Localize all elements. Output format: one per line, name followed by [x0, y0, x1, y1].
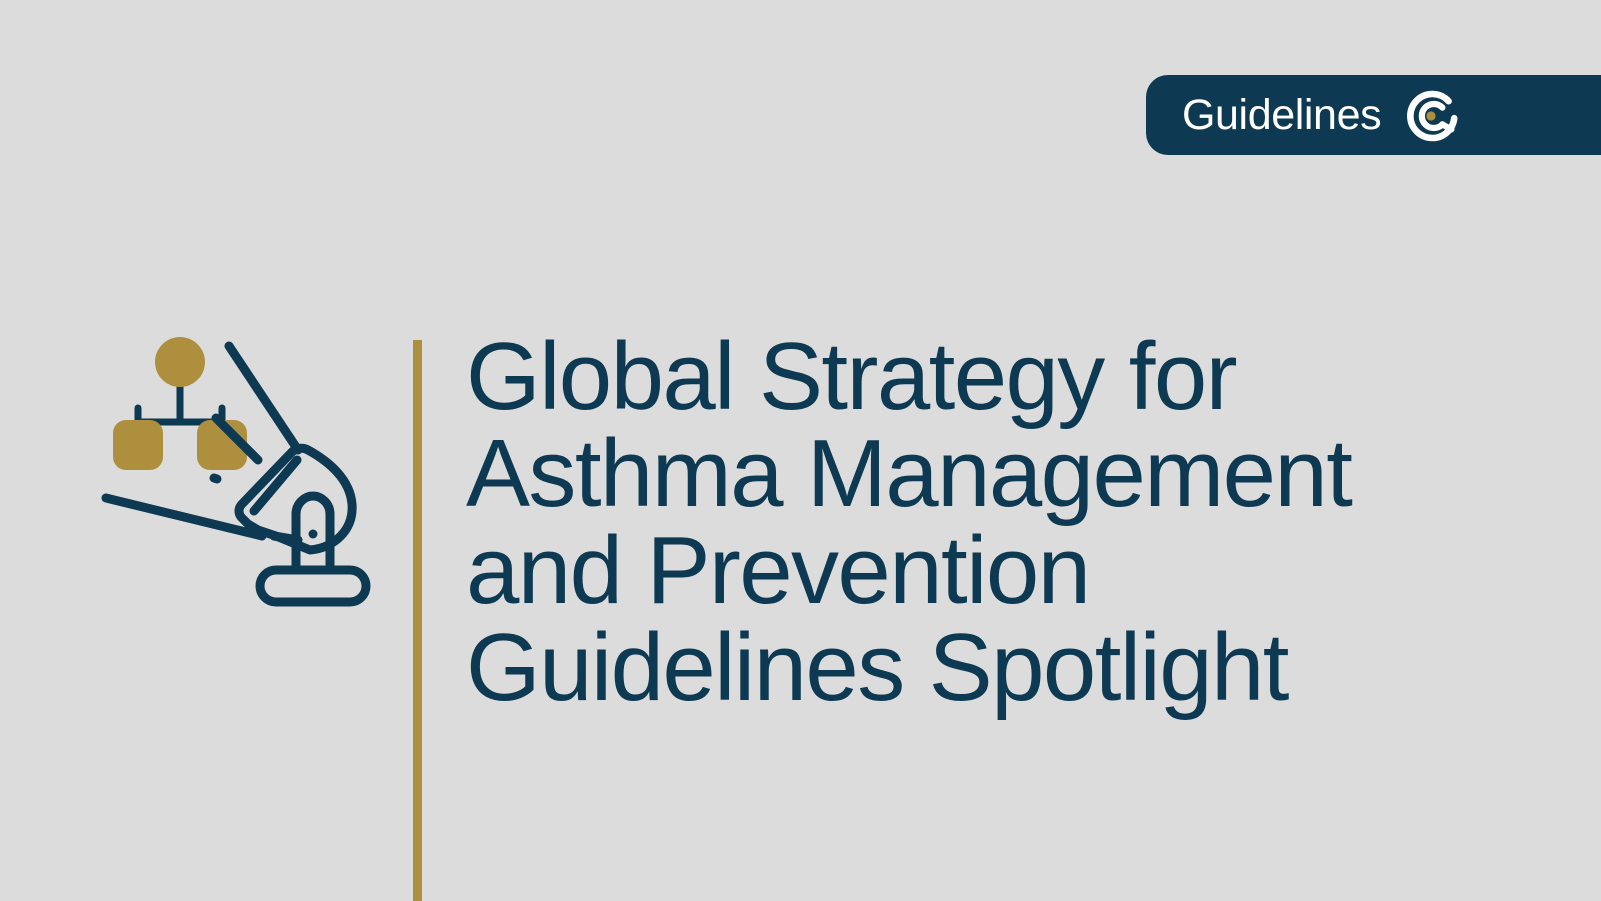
gold-vertical-divider — [413, 340, 422, 901]
title-line-2: Asthma Management — [466, 425, 1476, 522]
slide-canvas: Guidelines — [0, 0, 1601, 901]
brand-badge-label: Guidelines — [1182, 94, 1381, 137]
brand-badge[interactable]: Guidelines — [1146, 75, 1601, 155]
title-line-4: Guidelines Spotlight — [466, 619, 1476, 716]
spotlight-lamp-icon — [239, 448, 366, 602]
title-line-3: and Prevention — [466, 522, 1476, 619]
page-title: Global Strategy for Asthma Management an… — [466, 328, 1476, 716]
guidelines-circular-g-logo-icon — [1403, 88, 1459, 144]
spotlight-on-org-chart-icon — [62, 322, 374, 610]
org-chart-icon — [113, 337, 247, 470]
title-line-1: Global Strategy for — [466, 328, 1476, 425]
